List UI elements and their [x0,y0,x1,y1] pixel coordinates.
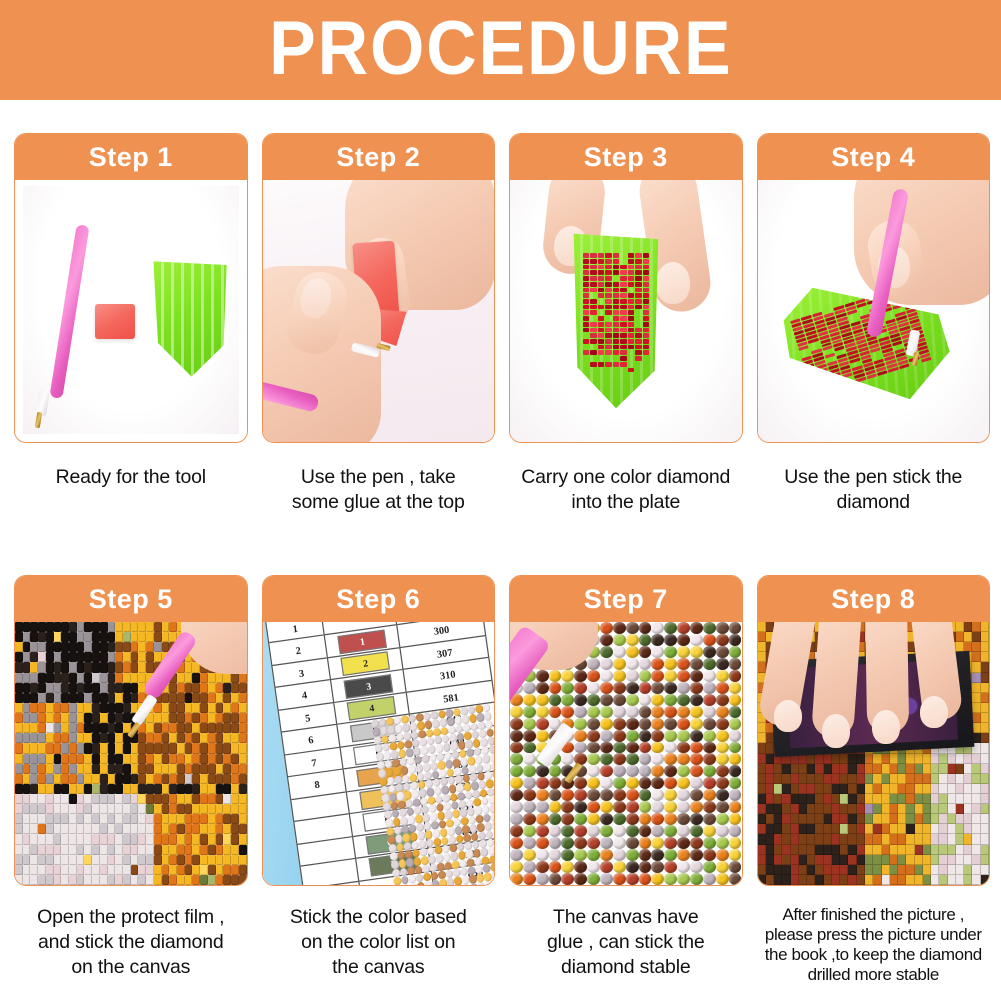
photo-pen-dipping-glue [263,180,495,442]
procedure-infographic: PROCEDURE Step 1 [0,0,1001,1001]
step-caption-3: Carry one color diamondinto the plate [509,465,743,515]
step-image-4 [758,180,990,442]
step-card-6: Step 6 12345678 Symbol1234567ABCF DMC300… [262,575,496,886]
step-card-5: Step 5 [14,575,248,886]
step-card-1: Step 1 [14,133,248,443]
step-caption-1: Ready for the tool [14,465,248,515]
page-header-banner: PROCEDURE [0,0,1001,100]
photo-tool-kit [23,186,239,434]
step-card-3: Step 3 [509,133,743,443]
photo-pen-picking-diamond [758,180,990,442]
step-caption-7: The canvas haveglue , can stick thediamo… [509,905,743,985]
step-image-7 [510,622,742,885]
photo-pressing-book [758,622,990,885]
photo-sunflower-canvas [15,622,247,885]
step-image-1 [15,180,247,442]
step-title-8: Step 8 [758,576,990,622]
photo-color-chart: 12345678 Symbol1234567ABCF DMC3003073105… [263,622,495,885]
step-title-5: Step 5 [15,576,247,622]
step-title-1: Step 1 [15,134,247,180]
step-title-3: Step 3 [510,134,742,180]
page-title: PROCEDURE [269,11,732,87]
steps-row-bottom: Step 5 Step 6 [14,575,990,886]
step-title-4: Step 4 [758,134,990,180]
step-image-6: 12345678 Symbol1234567ABCF DMC3003073105… [263,622,495,885]
step-image-2 [263,180,495,442]
glue-square-icon [95,304,135,339]
step-card-8: Step 8 [757,575,991,886]
step-caption-5: Open the protect film ,and stick the dia… [14,905,248,985]
step-card-2: Step 2 [262,133,496,443]
photo-tray-with-diamonds [510,180,742,442]
step-image-8 [758,622,990,885]
photo-closeup-diamonds [510,622,742,885]
step-caption-8: After finished the picture ,please press… [757,905,991,985]
red-diamonds-pile [583,253,649,378]
step-caption-4: Use the pen stick thediamond [757,465,991,515]
step-card-7: Step 7 [509,575,743,886]
step-title-6: Step 6 [263,576,495,622]
step-card-4: Step 4 [757,133,991,443]
step-title-2: Step 2 [263,134,495,180]
captions-row-bottom: Open the protect film ,and stick the dia… [14,905,990,985]
captions-row-top: Ready for the tool Use the pen , takesom… [14,465,990,515]
step-image-5 [15,622,247,885]
steps-row-top: Step 1 Step 2 [14,133,990,443]
canvas-beads-overlay [371,704,494,885]
step-title-7: Step 7 [510,576,742,622]
step-caption-2: Use the pen , takesome glue at the top [262,465,496,515]
step-image-3 [510,180,742,442]
step-caption-6: Stick the color basedon the color list o… [262,905,496,985]
